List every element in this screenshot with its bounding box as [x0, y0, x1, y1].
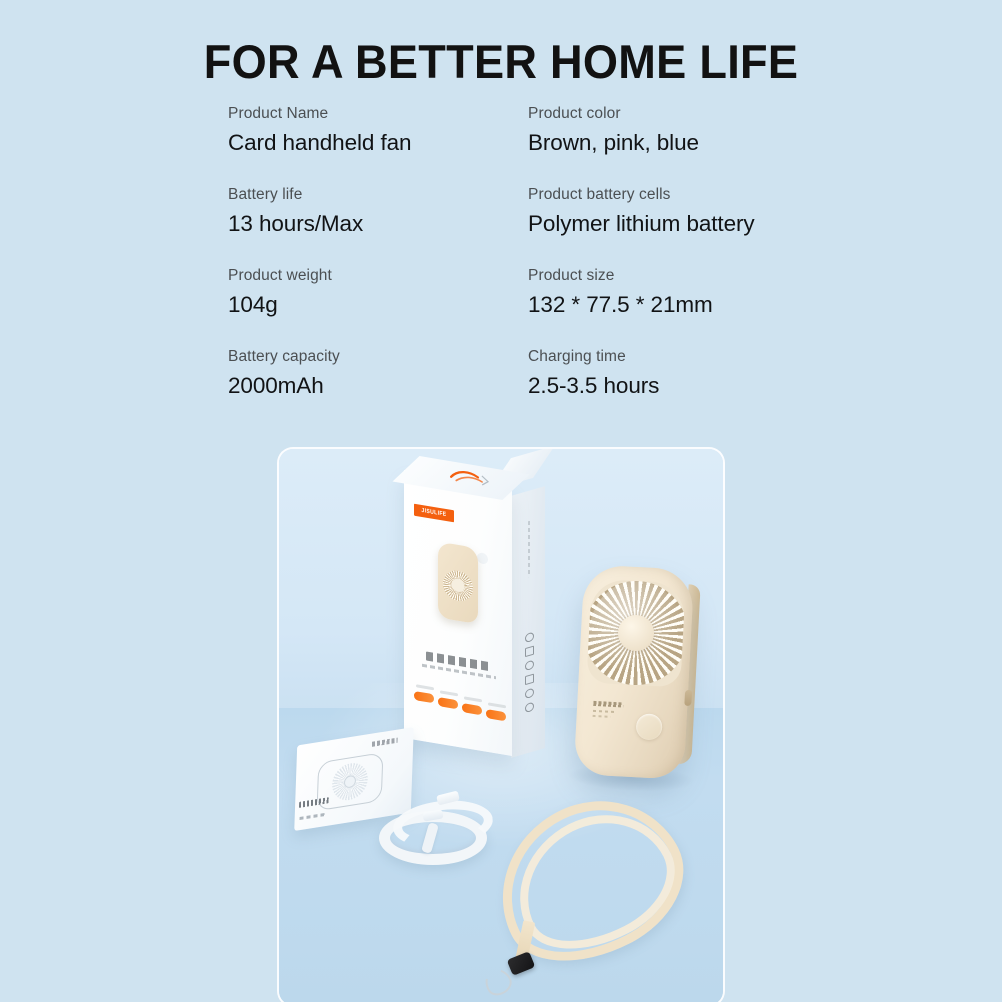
fan-brand-marking — [593, 701, 627, 711]
spec-value: 2000mAh — [228, 369, 528, 403]
handheld-fan — [574, 564, 695, 779]
box-certification-icons — [516, 629, 542, 732]
spec-label: Product color — [528, 104, 788, 124]
lanyard-strap — [479, 801, 699, 997]
retail-box: JISULIFE — [404, 461, 554, 751]
lanyard-clasp — [507, 951, 536, 976]
side-text-line — [528, 521, 530, 578]
cert-icon — [525, 646, 534, 658]
spec-label: Product Name — [228, 104, 528, 124]
brand-line — [593, 701, 623, 708]
product-photo-panel: JISULIFE — [277, 447, 725, 1002]
cert-icon — [525, 702, 534, 714]
feature-pill — [414, 691, 434, 703]
spec-item-product-color: Product color Brown, pink, blue — [528, 104, 788, 185]
spec-label: Product battery cells — [528, 185, 788, 205]
box-side-lettering — [516, 515, 542, 612]
feature-pill — [462, 703, 482, 715]
spec-value: 132 * 77.5 * 21mm — [528, 288, 788, 322]
spec-item-product-name: Product Name Card handheld fan — [228, 104, 528, 185]
spec-label: Product size — [528, 266, 788, 286]
spec-label: Charging time — [528, 347, 788, 367]
manual-logo — [372, 738, 398, 747]
spec-item-battery-capacity: Battery capacity 2000mAh — [228, 347, 528, 428]
spec-label: Battery life — [228, 185, 528, 205]
pill-caption — [488, 702, 506, 708]
product-spec-page: FOR A BETTER HOME LIFE Product Name Card… — [0, 0, 1002, 1002]
cert-icon — [525, 688, 534, 700]
feature-pill — [438, 697, 458, 709]
spec-item-battery-cells: Product battery cells Polymer lithium ba… — [528, 185, 788, 266]
spec-value: Card handheld fan — [228, 126, 528, 160]
cert-icon — [525, 632, 534, 644]
spec-value: Polymer lithium battery — [528, 207, 788, 241]
cert-icon — [525, 674, 534, 686]
manual-body-line — [300, 813, 326, 820]
fan-grille-area — [586, 579, 685, 688]
spec-item-product-weight: Product weight 104g — [228, 266, 528, 347]
box-hero-dot — [477, 552, 488, 565]
box-hero-fan — [438, 541, 478, 624]
spec-item-battery-life: Battery life 13 hours/Max — [228, 185, 528, 266]
box-hero-image — [424, 529, 494, 651]
spec-item-product-size: Product size 132 * 77.5 * 21mm — [528, 266, 788, 347]
cert-icon — [525, 660, 534, 672]
page-title: FOR A BETTER HOME LIFE — [20, 34, 982, 89]
spec-value: 13 hours/Max — [228, 207, 528, 241]
usb-c-port — [684, 690, 692, 706]
specifications-grid: Product Name Card handheld fan Product c… — [228, 104, 788, 428]
spec-label: Battery capacity — [228, 347, 528, 367]
spec-value: 2.5-3.5 hours — [528, 369, 788, 403]
spec-value: 104g — [228, 288, 528, 322]
spec-label: Product weight — [228, 266, 528, 286]
spec-item-charging-time: Charging time 2.5-3.5 hours — [528, 347, 788, 428]
spec-value: Brown, pink, blue — [528, 126, 788, 160]
